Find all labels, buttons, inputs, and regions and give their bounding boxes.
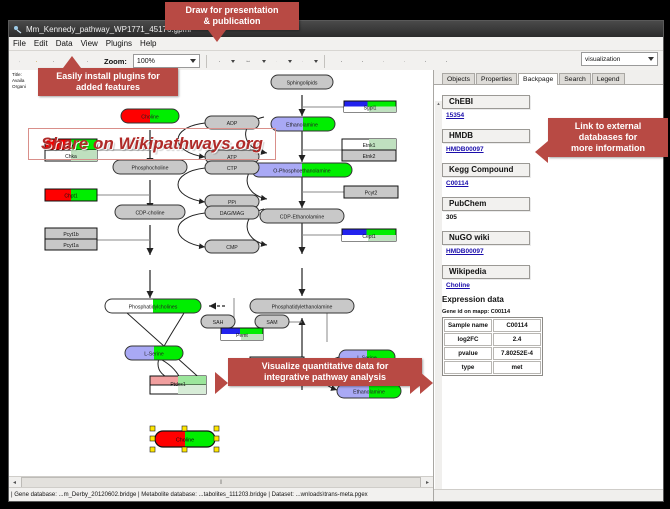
db-link-kegg[interactable]: C00114 <box>446 180 663 187</box>
svg-text:Etnk1: Etnk1 <box>363 143 376 149</box>
share-callout-text: Share on Wikipathways.org <box>41 134 263 153</box>
scroll-up-arrow[interactable]: ▴ <box>435 101 442 108</box>
menu-bar: File Edit Data View Plugins Help <box>9 37 663 51</box>
chevron-down-icon[interactable] <box>262 60 266 63</box>
menu-item-view[interactable]: View <box>81 39 98 48</box>
callout-link-line1: Link to external <box>554 121 662 132</box>
callout-draw-line1: Draw for presentation <box>171 5 293 16</box>
menu-item-plugins[interactable]: Plugins <box>106 39 132 48</box>
svg-text:Phosphatidylcholines: Phosphatidylcholines <box>129 305 178 311</box>
svg-text:L-Serine: L-Serine <box>144 352 164 358</box>
svg-text:SAH: SAH <box>213 320 224 326</box>
save-disk-icon[interactable] <box>47 55 60 68</box>
db-link-nugo[interactable]: HMDB00097 <box>446 248 663 255</box>
svg-text:CMP: CMP <box>226 245 238 251</box>
db-title-pubchem: PubChem <box>442 197 530 211</box>
expr-key-log2fc: log2FC <box>444 333 492 346</box>
svg-text:Choline: Choline <box>141 115 159 121</box>
toolbar-separator <box>206 55 207 68</box>
callout-visualize-arrow-left <box>215 372 228 394</box>
svg-text:Sgpl1: Sgpl1 <box>364 106 377 112</box>
chevron-down-icon <box>648 57 654 61</box>
datanode-icon[interactable]: AN <box>213 55 226 68</box>
visualization-select[interactable]: visualization <box>581 52 658 66</box>
chevron-down-icon[interactable] <box>231 60 235 63</box>
db-title-kegg: Kegg Compound <box>442 163 530 177</box>
visualization-value: visualization <box>585 56 620 63</box>
new-document-icon[interactable] <box>13 55 26 68</box>
selected-node: Choline <box>150 426 219 452</box>
expr-key-type: type <box>444 361 492 374</box>
svg-text:Pcyt1b: Pcyt1b <box>63 232 79 238</box>
callout-plugins-arrow <box>63 56 81 68</box>
interaction-icon[interactable] <box>296 55 309 68</box>
pathvisio-icon <box>13 25 22 34</box>
expr-val-sample: C00114 <box>493 319 541 332</box>
svg-text:Pemt: Pemt <box>236 333 248 339</box>
tab-search[interactable]: Search <box>559 73 591 84</box>
expr-key-pvalue: pvalue <box>444 347 492 360</box>
callout-link-line3: more information <box>554 143 662 154</box>
callout-link-line2: databases for <box>554 132 662 143</box>
expression-data-header: Expression data <box>442 295 663 304</box>
tab-legend[interactable]: Legend <box>592 73 625 84</box>
svg-text:Pcyt1a: Pcyt1a <box>63 243 79 249</box>
expr-val-type: met <box>493 361 541 374</box>
share-callout: Share on Wikipathways.org <box>28 128 276 160</box>
svg-text:ADP: ADP <box>227 121 238 127</box>
chevron-down-icon <box>190 59 196 63</box>
callout-draw-line2: & publication <box>171 16 293 27</box>
expr-val-pvalue: 7.80252E-4 <box>493 347 541 360</box>
status-bar-text: | Gene database: ...m_Derby_20120602.bri… <box>11 492 368 498</box>
db-title-nugo: NuGO wiki <box>442 231 530 245</box>
pathway-canvas-panel[interactable]: Title: Availa Organi <box>9 70 434 501</box>
line-icon[interactable] <box>270 55 283 68</box>
db-entry-nugo: NuGO wiki HMDB00097 <box>442 227 663 255</box>
db-value-pubchem: 305 <box>446 214 663 221</box>
chevron-down-icon[interactable] <box>288 60 292 63</box>
db-title-chebi: ChEBI <box>442 95 530 109</box>
distribute-icon[interactable] <box>398 55 411 68</box>
expr-val-log2fc: 2.4 <box>493 333 541 346</box>
align-top-icon[interactable] <box>335 55 348 68</box>
callout-plugins-line1: Easily install plugins for <box>44 71 172 82</box>
toolbar-separator <box>324 55 325 68</box>
tab-objects[interactable]: Objects <box>442 73 475 84</box>
callout-visualize-line1: Visualize quantitative data for <box>234 361 416 372</box>
zoom-value: 100% <box>137 58 155 65</box>
paste-icon[interactable] <box>81 55 94 68</box>
menu-item-data[interactable]: Data <box>56 39 73 48</box>
callout-visualize-line2: integrative pathway analysis <box>234 372 416 383</box>
svg-text:Etnk2: Etnk2 <box>363 154 376 160</box>
svg-text:Sphingolipids: Sphingolipids <box>287 81 318 87</box>
side-panel-scrollbar[interactable]: ▴ <box>435 101 442 499</box>
tab-backpage[interactable]: Backpage <box>518 73 558 85</box>
expression-table: Sample name C00114 log2FC 2.4 pvalue 7.8… <box>442 317 543 376</box>
svg-text:Chpt1: Chpt1 <box>64 194 78 200</box>
menu-item-file[interactable]: File <box>13 39 26 48</box>
stack-icon[interactable] <box>377 55 390 68</box>
callout-draw: Draw for presentation & publication <box>165 2 299 30</box>
common-width-icon[interactable] <box>419 55 432 68</box>
callout-visualize: Visualize quantitative data for integrat… <box>228 358 422 386</box>
callout-visualize-arrow-tip <box>420 372 433 394</box>
screenshot-root: Mm_Kennedy_pathway_WP1771_45176.gpml Fil… <box>0 0 670 509</box>
svg-text:Phosphocholine: Phosphocholine <box>132 166 169 172</box>
tab-properties[interactable]: Properties <box>476 73 517 84</box>
callout-plugins: Easily install plugins for added feature… <box>38 68 178 96</box>
side-panel-tabs: Objects Properties Backpage Search Legen… <box>434 70 663 85</box>
svg-text:CDP-Ethanolamine: CDP-Ethanolamine <box>280 215 325 221</box>
align-left-icon[interactable] <box>356 55 369 68</box>
table-row: Sample name C00114 <box>444 319 541 332</box>
pathway-canvas[interactable]: Title: Availa Organi <box>9 70 433 501</box>
svg-text:Phosphatidylethanolamine: Phosphatidylethanolamine <box>272 305 333 311</box>
common-height-icon[interactable] <box>440 55 453 68</box>
svg-text:Cept1: Cept1 <box>362 234 376 240</box>
expr-key-sample: Sample name <box>444 319 492 332</box>
svg-text:PPi: PPi <box>228 200 236 206</box>
db-link-wikipedia[interactable]: Choline <box>446 282 663 289</box>
menu-item-help[interactable]: Help <box>140 39 156 48</box>
svg-text:SAM: SAM <box>266 320 277 326</box>
side-panel-footer <box>434 489 663 501</box>
chevron-down-icon[interactable] <box>314 60 318 63</box>
db-entry-pubchem: PubChem 305 <box>442 193 663 221</box>
svg-text:Ptdss1: Ptdss1 <box>170 382 186 388</box>
table-row: type met <box>444 361 541 374</box>
menu-item-edit[interactable]: Edit <box>34 39 48 48</box>
svg-text:Label: Label <box>246 61 251 63</box>
db-entry-wikipedia: Wikipedia Choline <box>442 261 663 289</box>
db-entry-chebi: ChEBI 15354 <box>442 91 663 119</box>
title-bar: Mm_Kennedy_pathway_WP1771_45176.gpml <box>9 21 663 37</box>
db-title-wikipedia: Wikipedia <box>442 265 530 279</box>
svg-text:Ethanolamine: Ethanolamine <box>286 123 318 129</box>
callout-link-arrow <box>535 141 548 163</box>
table-row: pvalue 7.80252E-4 <box>444 347 541 360</box>
callout-draw-arrow <box>208 30 226 42</box>
db-title-hmdb: HMDB <box>442 129 530 143</box>
table-row: log2FC 2.4 <box>444 333 541 346</box>
gene-id-line: Gene id on mapp: C00114 <box>442 309 663 315</box>
svg-text:Choline: Choline <box>176 438 194 444</box>
open-folder-icon[interactable] <box>30 55 43 68</box>
callout-plugins-line2: added features <box>44 82 172 93</box>
db-entry-kegg: Kegg Compound C00114 <box>442 159 663 187</box>
label-icon[interactable]: Label <box>239 55 257 68</box>
svg-text:Ethanolamine: Ethanolamine <box>353 390 385 396</box>
svg-text:DAG/MAG: DAG/MAG <box>220 211 245 217</box>
status-bar: | Gene database: ...m_Derby_20120602.bri… <box>9 487 433 501</box>
svg-text:O-Phosphoethanolamine: O-Phosphoethanolamine <box>273 169 331 175</box>
zoom-select[interactable]: 100% <box>133 54 200 68</box>
svg-text:CTP: CTP <box>227 166 238 172</box>
svg-text:CDP-choline: CDP-choline <box>135 211 164 217</box>
callout-link: Link to external databases for more info… <box>548 118 668 157</box>
zoom-label: Zoom: <box>104 57 127 66</box>
svg-text:Pcyt2: Pcyt2 <box>365 191 378 197</box>
